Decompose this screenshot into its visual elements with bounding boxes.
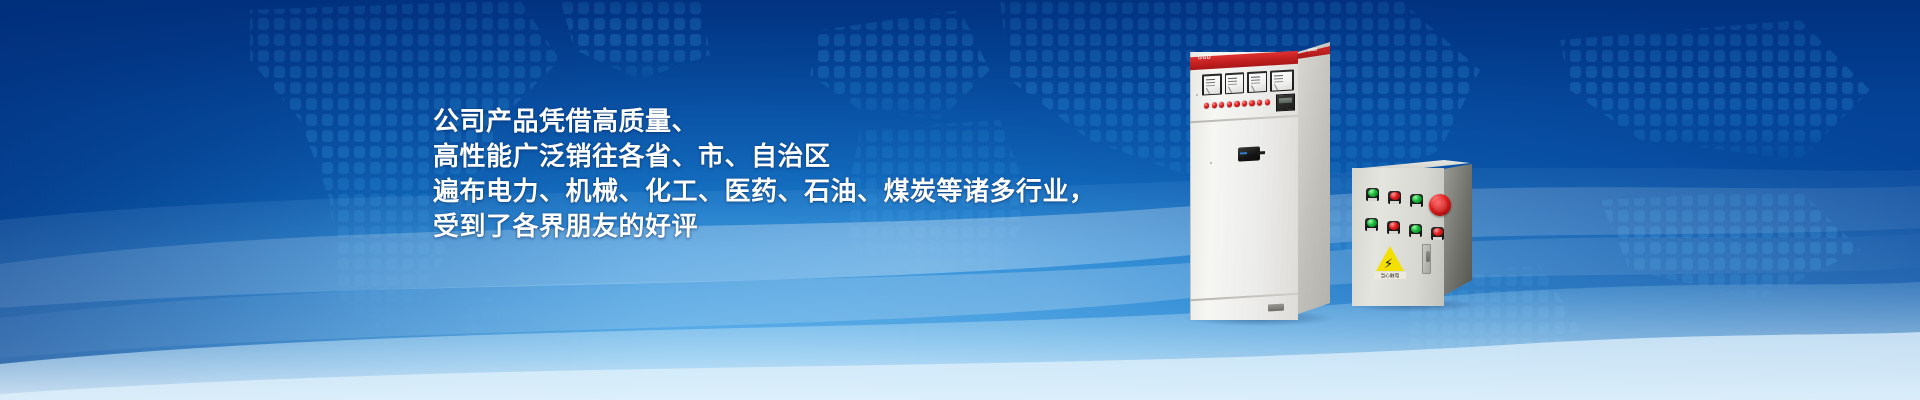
analog-meter-icon [1202, 73, 1222, 95]
push-button-green-icon [1409, 224, 1422, 237]
indicator-lamp-icon [1249, 100, 1254, 105]
headline-text-block: 公司产品凭借高质量、 高性能广泛销往各省、市、自治区 遍布电力、机械、化工、医药… [433, 104, 1073, 244]
control-box-side-panel [1443, 164, 1472, 296]
cabinet-door-handle-icon [1238, 146, 1260, 161]
indicator-lamp-icon [1219, 102, 1224, 107]
switchgear-cabinet-image: GGD GGD [1190, 42, 1330, 320]
lightning-bolt-icon: ⚡ [1384, 258, 1393, 271]
indicator-lamp-icon [1204, 103, 1209, 108]
push-button-green-icon [1410, 194, 1423, 207]
indicator-lamp-icon [1227, 102, 1232, 107]
headline-line-1: 公司产品凭借高质量、 [433, 104, 1073, 139]
cabinet-bottom-vent [1268, 304, 1284, 312]
indicator-lamp-icon [1242, 101, 1247, 106]
analog-meter-icon [1247, 71, 1267, 93]
push-button-red-icon [1431, 227, 1444, 240]
analog-meter-icon [1270, 69, 1294, 91]
warning-label-text: 当心触电 [1374, 272, 1406, 279]
control-box-image: ⚡ 当心触电 [1352, 158, 1472, 308]
push-button-red-icon [1387, 221, 1400, 234]
promo-banner: 公司产品凭借高质量、 高性能广泛销往各省、市、自治区 遍布电力、机械、化工、医药… [0, 0, 1920, 400]
push-button-red-icon [1388, 191, 1401, 204]
indicator-lamp-icon [1234, 101, 1239, 106]
push-button-green-icon [1365, 218, 1378, 231]
emergency-stop-button-icon [1429, 194, 1451, 216]
indicator-lamp-icon [1265, 100, 1270, 105]
headline-line-2: 高性能广泛销往各省、市、自治区 [433, 139, 1073, 174]
indicator-lamp-icon [1257, 100, 1262, 105]
indicator-lamp-icon [1212, 103, 1217, 108]
cabinet-brand-label: GGD [1198, 55, 1211, 62]
door-latch-handle-icon [1422, 244, 1431, 274]
cabinet-brand-label-side: GGD [1308, 47, 1317, 53]
push-button-green-icon [1366, 188, 1379, 201]
headline-line-4: 受到了各界朋友的好评 [433, 209, 1073, 244]
cabinet-side-panel [1298, 42, 1330, 314]
analog-meter-icon [1225, 72, 1245, 94]
digital-power-meter-icon [1276, 93, 1295, 111]
headline-line-3: 遍布电力、机械、化工、医药、石油、煤炭等诸多行业， [433, 174, 1073, 209]
